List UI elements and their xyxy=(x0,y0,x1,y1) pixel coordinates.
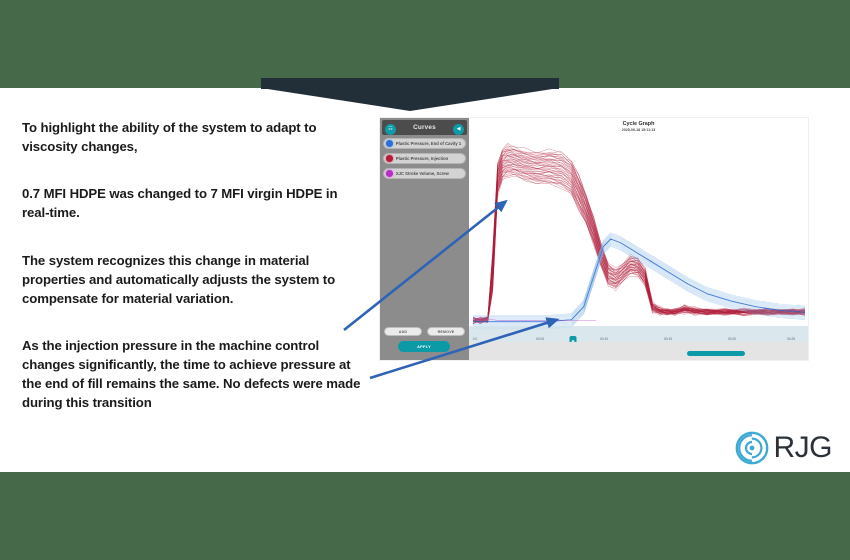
curve-color-dot-icon xyxy=(385,169,394,178)
slide-body-copy: To highlight the ability of the system t… xyxy=(22,118,367,413)
copy-paragraph-3: The system recognizes this change in mat… xyxy=(22,251,367,308)
curve-label: Plastic Pressure, End of Cavity 1 xyxy=(396,141,461,146)
axis-tick-label: 00:10 xyxy=(600,337,608,341)
copy-paragraph-1: To highlight the ability of the system t… xyxy=(22,118,367,156)
rjg-logo: RJG xyxy=(735,431,833,465)
axis-tick-label: 00:25 xyxy=(787,337,795,341)
curves-sidebar-header: ☷ Curves ◀ xyxy=(382,120,467,135)
axis-tick-label: 00:05 xyxy=(536,337,544,341)
sidebar-button-group: ADD REMOVE xyxy=(384,327,465,336)
app-screenshot: ☷ Curves ◀ Plastic Pressure, End of Cavi… xyxy=(380,118,808,360)
top-brand-band xyxy=(0,0,850,88)
curve-color-dot-icon xyxy=(385,154,394,163)
curves-sidebar-title: Curves xyxy=(413,124,436,131)
curve-list: Plastic Pressure, End of Cavity 1 Plasti… xyxy=(383,138,466,183)
scrollbar-thumb[interactable] xyxy=(687,351,745,356)
chart-canvas[interactable] xyxy=(469,118,808,360)
remove-curve-button[interactable]: REMOVE xyxy=(427,327,465,336)
chart-svg xyxy=(469,118,808,360)
horizontal-scrollbar[interactable] xyxy=(469,342,808,360)
axis-tick-label: 00:20 xyxy=(728,337,736,341)
curve-label: Plastic Pressure, Injection xyxy=(396,156,448,161)
axis-tick-label: 00:15 xyxy=(664,337,672,341)
curves-sidebar: ☷ Curves ◀ Plastic Pressure, End of Cavi… xyxy=(380,118,469,360)
curve-label: XJC Stroke Volume, Screw xyxy=(396,171,449,176)
chevron-pointer-icon xyxy=(261,88,559,111)
list-item[interactable]: Plastic Pressure, End of Cavity 1 xyxy=(383,138,466,149)
axis-tick-label: 0.0 xyxy=(473,337,477,341)
slide-root: To highlight the ability of the system t… xyxy=(0,0,850,560)
cycle-graph-panel: Cycle Graph 2025-09-18 15:11:13 0.0 00:0… xyxy=(469,118,808,360)
list-item[interactable]: Plastic Pressure, Injection xyxy=(383,153,466,164)
apply-button[interactable]: APPLY xyxy=(398,341,450,352)
time-axis-strip[interactable] xyxy=(469,326,808,342)
add-curve-button[interactable]: ADD xyxy=(384,327,422,336)
copy-paragraph-4: As the injection pressure in the machine… xyxy=(22,336,367,413)
copy-paragraph-2: 0.7 MFI HDPE was changed to 7 MFI virgin… xyxy=(22,184,367,222)
bottom-brand-band xyxy=(0,472,850,560)
curves-icon[interactable]: ☷ xyxy=(385,124,396,135)
rjg-swirl-icon xyxy=(735,431,769,465)
curve-color-dot-icon xyxy=(385,139,394,148)
collapse-left-icon[interactable]: ◀ xyxy=(453,124,464,135)
rjg-logo-text: RJG xyxy=(774,431,833,465)
list-item[interactable]: XJC Stroke Volume, Screw xyxy=(383,168,466,179)
